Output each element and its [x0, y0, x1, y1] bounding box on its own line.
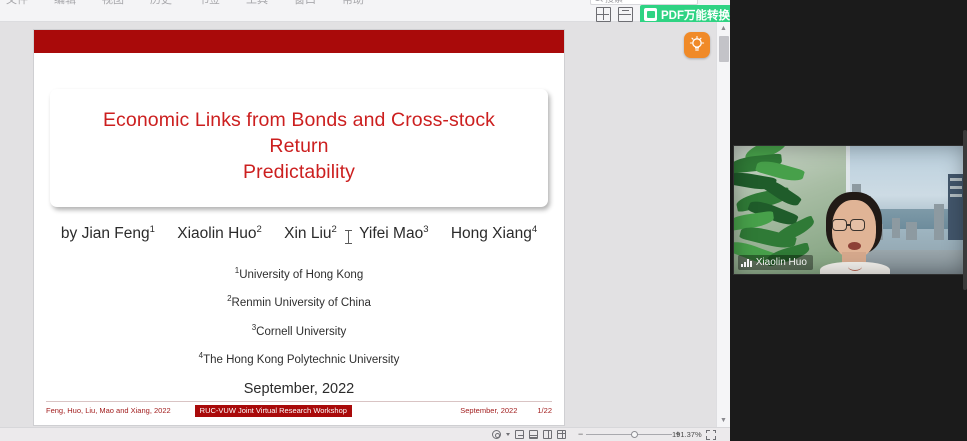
author: Xiaolin Huo2 [177, 225, 262, 242]
menu-item[interactable]: 窗口 [294, 0, 316, 7]
author: Xin Liu2 [284, 225, 337, 242]
split-view-icon[interactable] [618, 7, 633, 22]
menu-item[interactable]: 历史 [150, 0, 172, 7]
author: Yifei Mao3 [359, 225, 428, 242]
author-name: Jian Feng [82, 225, 150, 242]
footer-authors: Feng, Huo, Liu, Mao and Xiang, 2022 [46, 406, 171, 415]
author-name: Xin Liu [284, 225, 331, 242]
footer-page-number: 1/22 [537, 406, 552, 415]
zoom-out-button[interactable]: − [578, 430, 583, 439]
author: Hong Xiang4 [451, 225, 537, 242]
grid-view-icon[interactable] [596, 7, 611, 22]
meeting-panel: Xiaolin Huo [730, 0, 967, 441]
menu-item[interactable]: 书签 [198, 0, 220, 7]
pdf-statusbar: − + 191.37% [0, 427, 730, 441]
participant-name-label: Xiaolin Huo [756, 257, 807, 268]
pdf-reader-window: 文件 编辑 视图 历史 书签 工具 窗口 帮助 搜索 PDF万能转换 [0, 0, 730, 441]
pdf-convert-label: PDF万能转换 [661, 7, 730, 23]
menu-item[interactable]: 文件 [6, 0, 28, 7]
menu-item[interactable]: 视图 [102, 0, 124, 7]
author-name: Hong Xiang [451, 225, 532, 242]
app-root: 文件 编辑 视图 历史 书签 工具 窗口 帮助 搜索 PDF万能转换 [0, 0, 967, 441]
footer-right: September, 2022 1/22 [460, 406, 552, 415]
scroll-up-icon[interactable]: ▲ [717, 22, 730, 35]
menu-item[interactable]: 工具 [246, 0, 268, 7]
slide-title-line-2: Predictability [243, 161, 355, 183]
slide-title: Economic Links from Bonds and Cross-stoc… [72, 107, 526, 185]
zoom-slider-track[interactable] [586, 434, 672, 435]
author-sup: 2 [257, 224, 262, 235]
byline-prefix: by Jian Feng1 [61, 225, 155, 242]
author-sup: 1 [150, 224, 155, 235]
author-sup: 4 [532, 224, 537, 235]
search-input-value: 搜索 [605, 0, 623, 4]
vertical-scrollbar[interactable]: ▲ ▼ [716, 22, 730, 427]
author-name: Yifei Mao [359, 225, 423, 242]
slide-footer: Feng, Huo, Liu, Mao and Xiang, 2022 RUC-… [34, 404, 564, 417]
audio-level-icon [741, 258, 752, 267]
slide-author-line: by Jian Feng1 Xiaolin Huo2 Xin Liu2 Yife… [34, 224, 564, 243]
menu-item[interactable]: 编辑 [54, 0, 76, 7]
two-page-scroll-icon[interactable] [557, 430, 566, 439]
lightbulb-icon[interactable] [684, 32, 710, 58]
rotate-view-icon[interactable] [492, 430, 501, 439]
meeting-scrollbar[interactable] [963, 130, 967, 290]
affiliation-item: 3Cornell University [34, 323, 564, 338]
fullscreen-icon[interactable] [706, 430, 716, 440]
footer-venue-badge: RUC-VUW Joint Virtual Research Workshop [195, 405, 352, 417]
chevron-down-icon[interactable] [506, 433, 510, 436]
search-icon [594, 0, 601, 1]
footer-divider [46, 401, 552, 402]
slide-header-band [34, 30, 564, 53]
continuous-scroll-icon[interactable] [529, 430, 538, 439]
footer-date: September, 2022 [460, 406, 517, 415]
affiliation-item: 2Renmin University of China [34, 294, 564, 309]
slide-title-line-1: Economic Links from Bonds and Cross-stoc… [103, 109, 495, 157]
pdf-convert-icon [644, 8, 657, 21]
zoom-level-label: 191.37% [672, 430, 702, 439]
author-name: Xiaolin Huo [177, 225, 256, 242]
zoom-slider[interactable]: − + [578, 430, 681, 439]
view-mode-controls [492, 430, 566, 439]
participant-video-tile[interactable]: Xiaolin Huo [733, 145, 964, 275]
slide-title-box: Economic Links from Bonds and Cross-stoc… [50, 89, 548, 207]
author-sup: 2 [332, 224, 337, 235]
menu-item[interactable]: 帮助 [342, 0, 364, 7]
scrollbar-thumb[interactable] [719, 36, 729, 62]
author-sup: 3 [423, 224, 428, 235]
affiliation-item: 1University of Hong Kong [34, 266, 564, 281]
scroll-down-icon[interactable]: ▼ [717, 414, 730, 427]
document-canvas[interactable]: Economic Links from Bonds and Cross-stoc… [0, 22, 716, 427]
affiliation-item: 4The Hong Kong Polytechnic University [34, 351, 564, 366]
zoom-slider-thumb[interactable] [631, 431, 638, 438]
slide-date: September, 2022 [34, 381, 564, 397]
participant-name-badge: Xiaolin Huo [738, 255, 813, 270]
two-page-icon[interactable] [543, 430, 552, 439]
slide-affiliations: 1University of Hong Kong 2Renmin Univers… [34, 266, 564, 379]
single-page-icon[interactable] [515, 430, 524, 439]
menu-item-list: 文件 编辑 视图 历史 书签 工具 窗口 帮助 [6, 0, 364, 7]
slide-page: Economic Links from Bonds and Cross-stoc… [34, 30, 564, 425]
text-cursor-icon [345, 230, 352, 244]
